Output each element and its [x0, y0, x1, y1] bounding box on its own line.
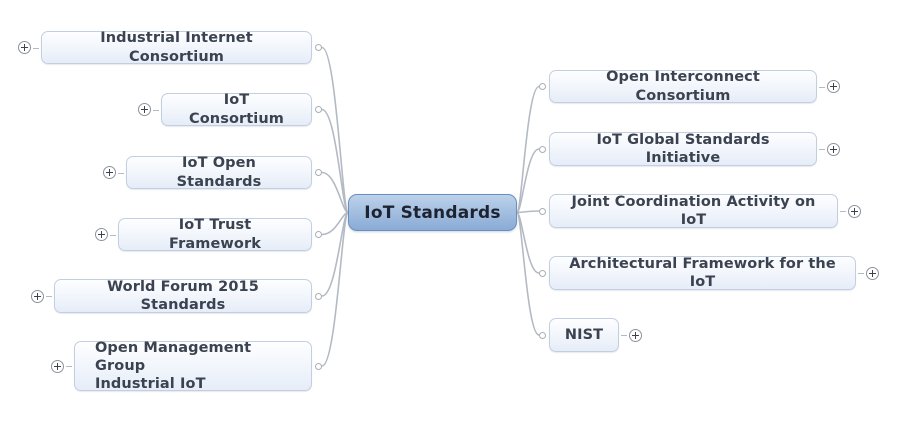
- expand-plus-icon-iot-trust-framework[interactable]: [95, 228, 108, 241]
- toggle-stub: [621, 335, 627, 336]
- edge-to-open-management-group-industrial-iot: [322, 213, 348, 367]
- connector-dot-industrial-internet-consortium: [315, 44, 322, 51]
- connector-dot-architectural-framework-for-the-iot: [539, 270, 546, 277]
- connector-dot-iot-open-standards: [315, 169, 322, 176]
- connector-dot-iot-global-standards-initiative: [539, 146, 546, 153]
- expand-plus-icon-open-management-group-industrial-iot[interactable]: [51, 360, 64, 373]
- node-iot-trust-framework[interactable]: IoT Trust Framework: [118, 218, 312, 251]
- edge-to-iot-global-standards-initiative: [517, 149, 539, 213]
- expand-plus-icon-nist[interactable]: [629, 329, 642, 342]
- node-label: Architectural Framework for the IoT: [550, 255, 855, 291]
- expand-plus-icon-iot-open-standards[interactable]: [103, 166, 116, 179]
- center-node-iot-standards[interactable]: IoT Standards: [348, 194, 517, 231]
- node-world-forum-2015-standards[interactable]: World Forum 2015 Standards: [54, 279, 312, 313]
- expand-plus-icon-joint-coordination-activity-on-iot[interactable]: [848, 205, 861, 218]
- edge-to-iot-trust-framework: [322, 213, 348, 235]
- edge-to-iot-consortium: [322, 110, 348, 213]
- toggle-stub: [858, 273, 864, 274]
- edge-to-open-interconnect-consortium: [517, 87, 539, 213]
- center-node-label: IoT Standards: [364, 203, 500, 223]
- connector-dot-world-forum-2015-standards: [315, 293, 322, 300]
- node-label: Industrial Internet Consortium: [42, 29, 311, 65]
- toggle-stub: [46, 296, 52, 297]
- node-joint-coordination-activity-on-iot[interactable]: Joint Coordination Activity on IoT: [549, 194, 838, 228]
- connector-dot-open-management-group-industrial-iot: [315, 363, 322, 370]
- expand-plus-icon-open-interconnect-consortium[interactable]: [827, 80, 840, 93]
- node-label: IoT Consortium: [162, 91, 311, 127]
- expand-plus-icon-world-forum-2015-standards[interactable]: [31, 290, 44, 303]
- edge-to-joint-coordination-activity-on-iot: [517, 211, 539, 213]
- toggle-stub: [110, 235, 116, 236]
- expand-plus-icon-iot-global-standards-initiative[interactable]: [827, 143, 840, 156]
- node-industrial-internet-consortium[interactable]: Industrial Internet Consortium: [41, 31, 312, 64]
- node-iot-open-standards[interactable]: IoT Open Standards: [126, 156, 312, 189]
- node-open-management-group-industrial-iot[interactable]: Open Management Group Industrial IoT: [74, 341, 312, 391]
- node-label: Open Interconnect Consortium: [550, 68, 816, 104]
- toggle-stub: [33, 48, 39, 49]
- node-label: Open Management Group Industrial IoT: [75, 339, 311, 393]
- node-iot-global-standards-initiative[interactable]: IoT Global Standards Initiative: [549, 132, 817, 166]
- toggle-stub: [118, 173, 124, 174]
- node-label: Joint Coordination Activity on IoT: [550, 193, 837, 229]
- node-label: IoT Trust Framework: [119, 216, 311, 252]
- toggle-stub: [66, 366, 72, 367]
- connector-dot-nist: [539, 332, 546, 339]
- connector-dot-iot-consortium: [315, 106, 322, 113]
- connector-dot-iot-trust-framework: [315, 231, 322, 238]
- edge-to-iot-open-standards: [322, 173, 348, 213]
- node-architectural-framework-for-the-iot[interactable]: Architectural Framework for the IoT: [549, 256, 856, 290]
- toggle-stub: [840, 211, 846, 212]
- edge-to-nist: [517, 213, 539, 336]
- expand-plus-icon-architectural-framework-for-the-iot[interactable]: [866, 267, 879, 280]
- expand-plus-icon-industrial-internet-consortium[interactable]: [18, 41, 31, 54]
- node-nist[interactable]: NIST: [549, 318, 619, 352]
- toggle-stub: [819, 149, 825, 150]
- node-label: IoT Global Standards Initiative: [550, 131, 816, 167]
- node-label: IoT Open Standards: [127, 154, 311, 190]
- edge-to-industrial-internet-consortium: [322, 48, 348, 213]
- edge-to-architectural-framework-for-the-iot: [517, 213, 539, 274]
- node-label: NIST: [550, 326, 618, 344]
- connector-dot-open-interconnect-consortium: [539, 83, 546, 90]
- toggle-stub: [153, 110, 159, 111]
- edge-to-world-forum-2015-standards: [322, 213, 348, 297]
- node-iot-consortium[interactable]: IoT Consortium: [161, 93, 312, 126]
- expand-plus-icon-iot-consortium[interactable]: [138, 103, 151, 116]
- node-label: World Forum 2015 Standards: [55, 278, 311, 314]
- node-open-interconnect-consortium[interactable]: Open Interconnect Consortium: [549, 70, 817, 103]
- toggle-stub: [819, 87, 825, 88]
- mindmap-canvas: IoT Standards Industrial Internet Consor…: [0, 0, 898, 435]
- connector-dot-joint-coordination-activity-on-iot: [539, 208, 546, 215]
